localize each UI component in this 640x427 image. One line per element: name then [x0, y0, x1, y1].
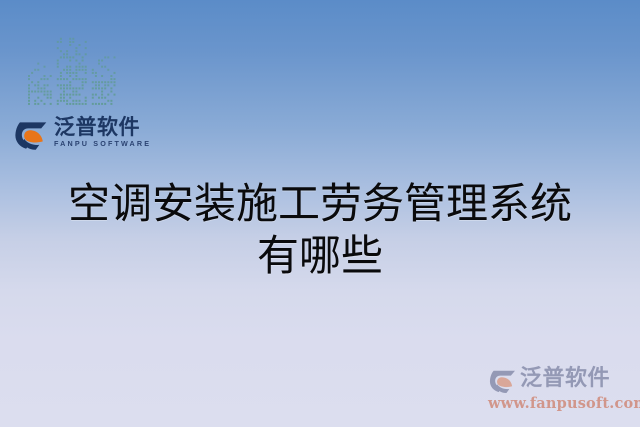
fanpu-logo-mark-icon [13, 114, 50, 151]
page-title-line-1: 空调安装施工劳务管理系统 [0, 178, 640, 230]
brand-name-cn: 泛普软件 [54, 116, 151, 139]
slide-canvas: 泛普软件 FANPU SOFTWARE 空调安装施工劳务管理系统 有哪些 泛普软… [0, 0, 640, 427]
brand-logo: 泛普软件 FANPU SOFTWARE [13, 109, 145, 155]
brand-name-en: FANPU SOFTWARE [54, 140, 151, 149]
pixel-city-skyline-graphic [28, 26, 132, 108]
skyline-svg [28, 26, 132, 108]
watermark: 泛普软件 www.fanpusoft.com [488, 363, 634, 415]
page-title: 空调安装施工劳务管理系统 有哪些 [0, 178, 640, 282]
watermark-name-cn: 泛普软件 [520, 368, 610, 390]
fanpu-watermark-mark-icon [488, 364, 518, 394]
watermark-logo-row: 泛普软件 [488, 363, 634, 395]
page-title-line-2: 有哪些 [0, 230, 640, 282]
brand-wordmark: 泛普软件 FANPU SOFTWARE [54, 116, 151, 148]
watermark-url: www.fanpusoft.com [488, 397, 634, 412]
